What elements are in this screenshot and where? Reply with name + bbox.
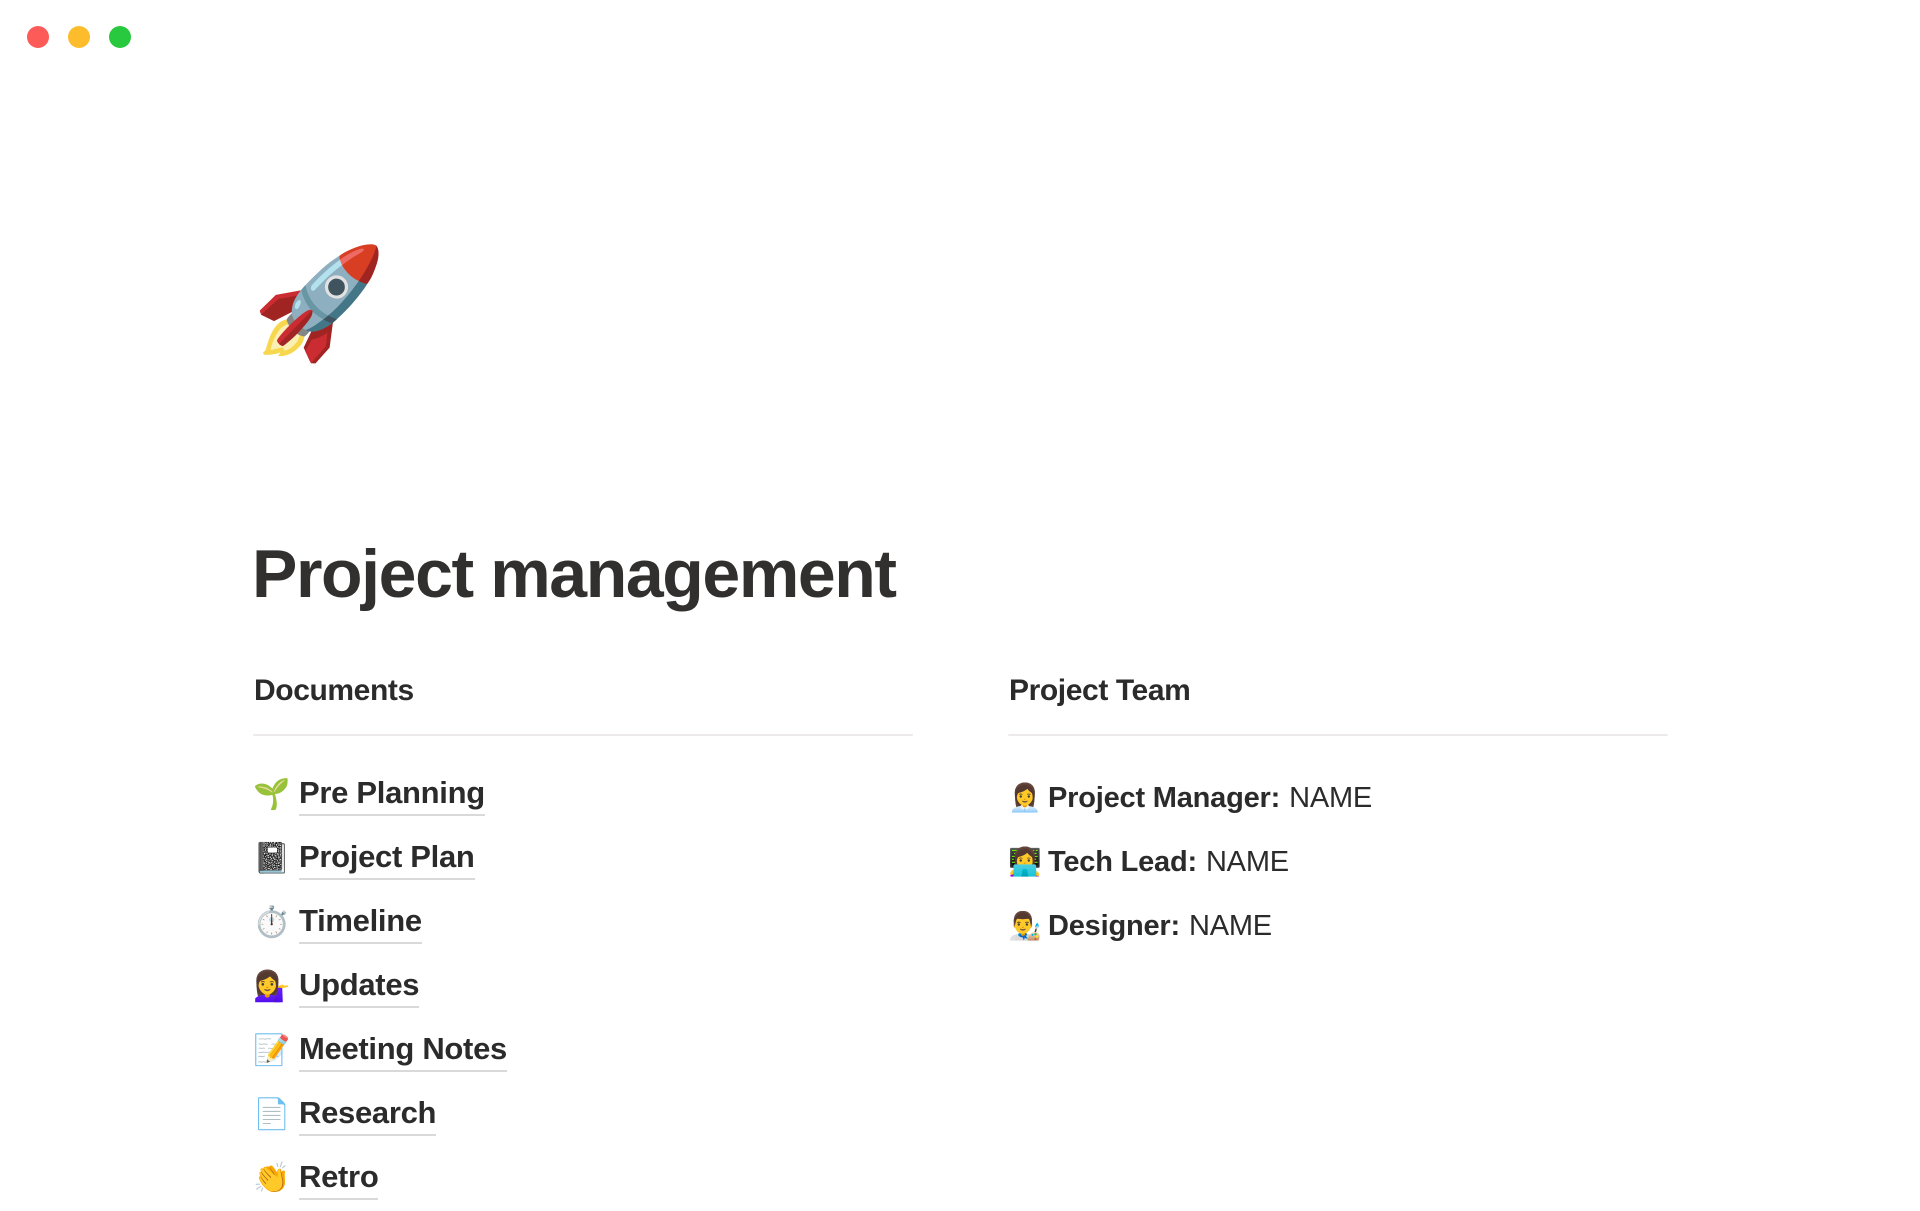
woman-office-worker-emoji: 👩‍💼 (1008, 785, 1048, 812)
documents-list: 🌱Pre Planning📓Project Plan⏱️Timeline💁‍♀️… (253, 763, 913, 1211)
team-column: Project Team 👩‍💼Project Manager:NAME👩‍💻T… (1008, 676, 1668, 958)
man-artist-emoji: 👨‍🎨 (1008, 913, 1048, 940)
seedling-emoji: 🌱 (253, 780, 299, 810)
team-divider (1008, 734, 1668, 736)
documents-divider (253, 734, 913, 736)
document-link-label[interactable]: Timeline (299, 902, 422, 945)
team-member-name[interactable]: NAME (1189, 910, 1272, 943)
stopwatch-emoji: ⏱️ (253, 908, 299, 938)
document-link-item[interactable]: 💁‍♀️Updates (253, 955, 913, 1019)
team-member-row: 👩‍💻Tech Lead:NAME (1008, 830, 1668, 894)
rocket-emoji[interactable]: 🚀 (252, 250, 386, 358)
page-facing-up-emoji: 📄 (253, 1100, 299, 1130)
team-heading: Project Team (1009, 676, 1668, 706)
team-member-role: Tech Lead: (1048, 846, 1197, 879)
document-link-item[interactable]: ⏱️Timeline (253, 891, 913, 955)
page-title[interactable]: Project management (252, 540, 896, 608)
document-link-label[interactable]: Meeting Notes (299, 1030, 507, 1073)
team-member-row: 👩‍💼Project Manager:NAME (1008, 766, 1668, 830)
document-link-item[interactable]: 📄Research (253, 1083, 913, 1147)
document-link-label[interactable]: Pre Planning (299, 774, 485, 817)
page-content: 🚀 Project management Documents 🌱Pre Plan… (0, 0, 1920, 1200)
woman-technologist-emoji: 👩‍💻 (1008, 849, 1048, 876)
document-link-item[interactable]: 📝Meeting Notes (253, 1019, 913, 1083)
team-member-role: Project Manager: (1048, 782, 1280, 815)
clapping-hands-emoji: 👏 (253, 1164, 299, 1194)
document-link-item[interactable]: 📓Project Plan (253, 827, 913, 891)
woman-tipping-hand-emoji: 💁‍♀️ (253, 972, 299, 1002)
documents-column: Documents 🌱Pre Planning📓Project Plan⏱️Ti… (253, 676, 913, 1211)
document-link-item[interactable]: 🌱Pre Planning (253, 763, 913, 827)
document-link-label[interactable]: Project Plan (299, 838, 475, 881)
documents-heading: Documents (254, 676, 913, 706)
document-link-label[interactable]: Updates (299, 966, 419, 1009)
team-member-name[interactable]: NAME (1289, 782, 1372, 815)
team-list: 👩‍💼Project Manager:NAME👩‍💻Tech Lead:NAME… (1008, 766, 1668, 958)
team-member-role: Designer: (1048, 910, 1180, 943)
document-link-label[interactable]: Retro (299, 1158, 378, 1201)
document-link-item[interactable]: 👏Retro (253, 1147, 913, 1211)
spiral-notepad-emoji: 📓 (253, 844, 299, 874)
document-link-label[interactable]: Research (299, 1094, 436, 1137)
team-member-row: 👨‍🎨Designer:NAME (1008, 894, 1668, 958)
team-member-name[interactable]: NAME (1206, 846, 1289, 879)
memo-emoji: 📝 (253, 1036, 299, 1066)
